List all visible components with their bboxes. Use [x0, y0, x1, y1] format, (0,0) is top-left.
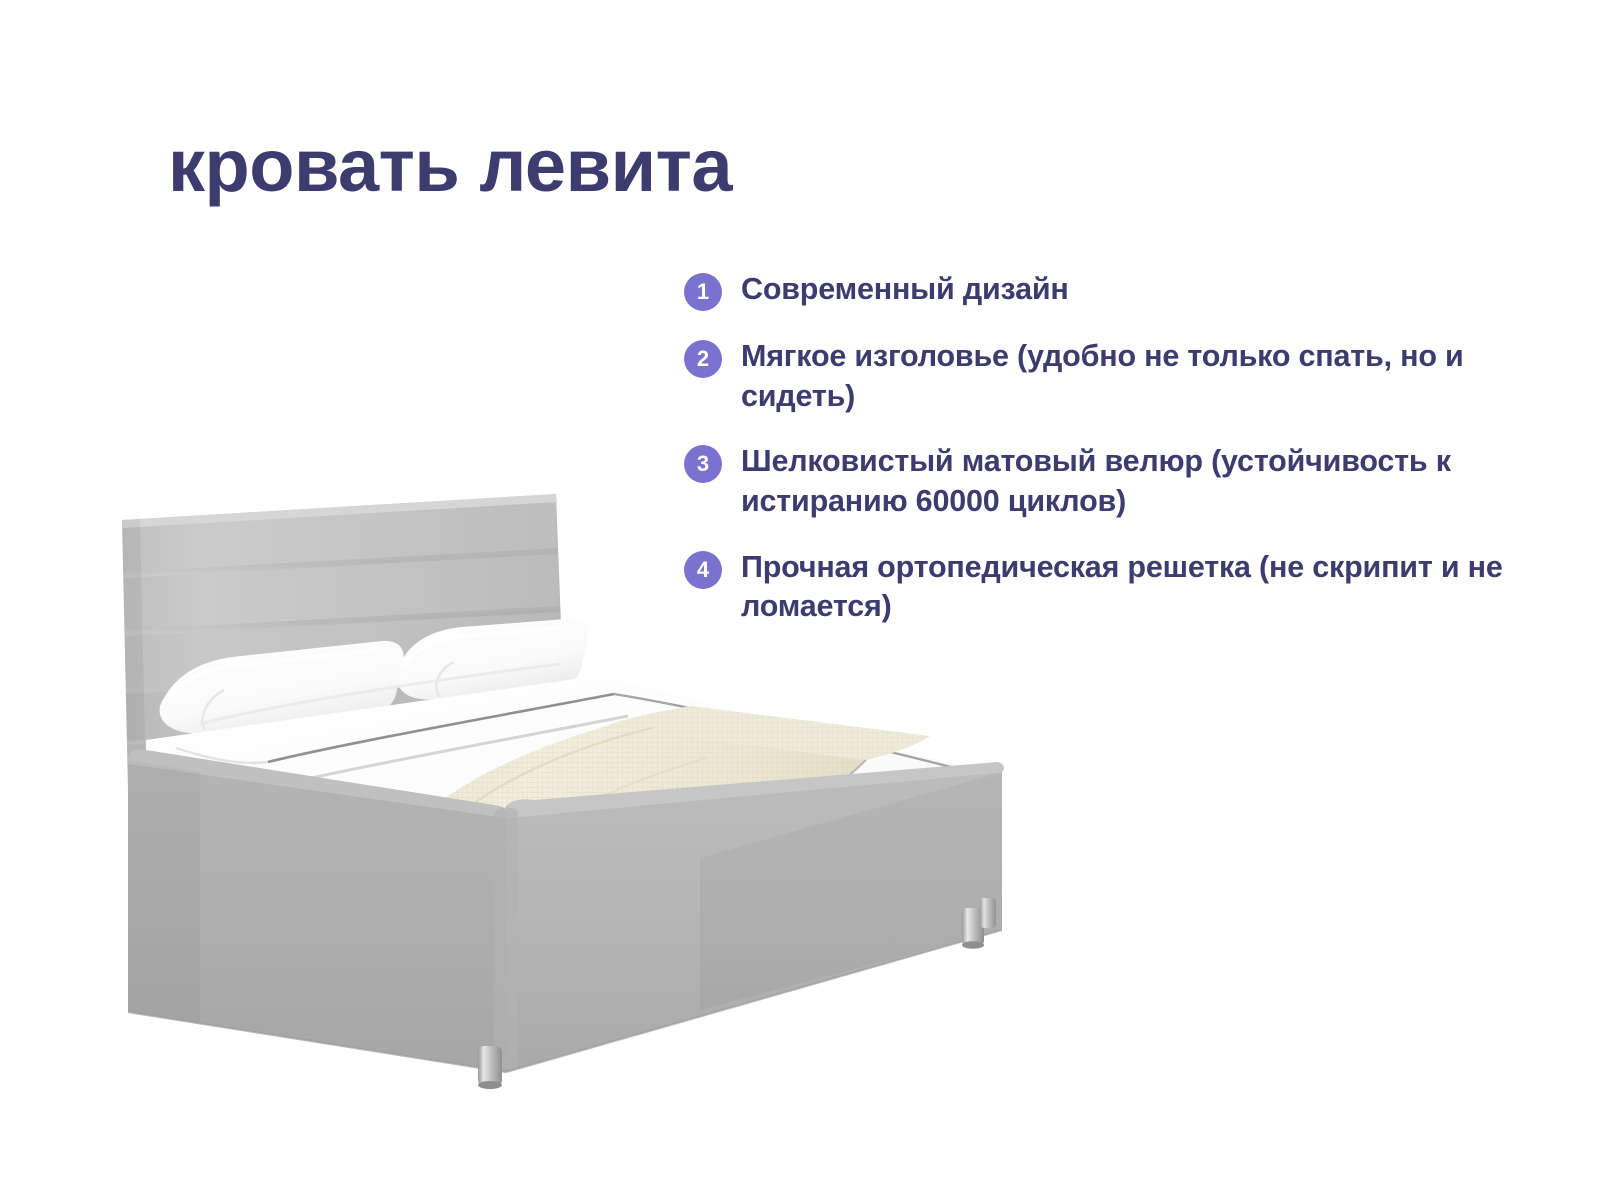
leg-back-right	[980, 898, 996, 928]
leg-front-left	[478, 1046, 502, 1089]
feature-number-badge-4: 4	[684, 551, 722, 589]
feature-number-badge-1: 1	[684, 273, 722, 311]
feature-number-badge-2: 2	[684, 340, 722, 378]
page-title: кровать левита	[168, 129, 732, 203]
feature-item-1: 1 Современный дизайн	[684, 270, 1514, 311]
feature-text-3: Шелковистый матовый велюр (устойчивость …	[741, 442, 1514, 521]
leg-back-left	[128, 862, 149, 899]
feature-list: 1 Современный дизайн 2 Мягкое изголовье …	[684, 270, 1514, 653]
feature-item-4: 4 Прочная ортопедическая решетка (не скр…	[684, 548, 1514, 627]
headboard	[122, 494, 566, 790]
leg-front-right	[962, 908, 984, 949]
feature-item-3: 3 Шелковистый матовый велюр (устойчивост…	[684, 442, 1514, 521]
feature-text-2: Мягкое изголовье (удобно не только спать…	[741, 337, 1514, 416]
feature-number-badge-3: 3	[684, 445, 722, 483]
feature-item-2: 2 Мягкое изголовье (удобно не только спа…	[684, 337, 1514, 416]
feature-text-1: Современный дизайн	[741, 270, 1069, 310]
blanket	[406, 706, 930, 887]
feature-text-4: Прочная ортопедическая решетка (не скрип…	[741, 548, 1514, 627]
pillow-left	[160, 641, 404, 734]
pillow-right	[397, 619, 588, 700]
mattress	[146, 664, 986, 910]
bed-base	[128, 749, 1004, 1072]
